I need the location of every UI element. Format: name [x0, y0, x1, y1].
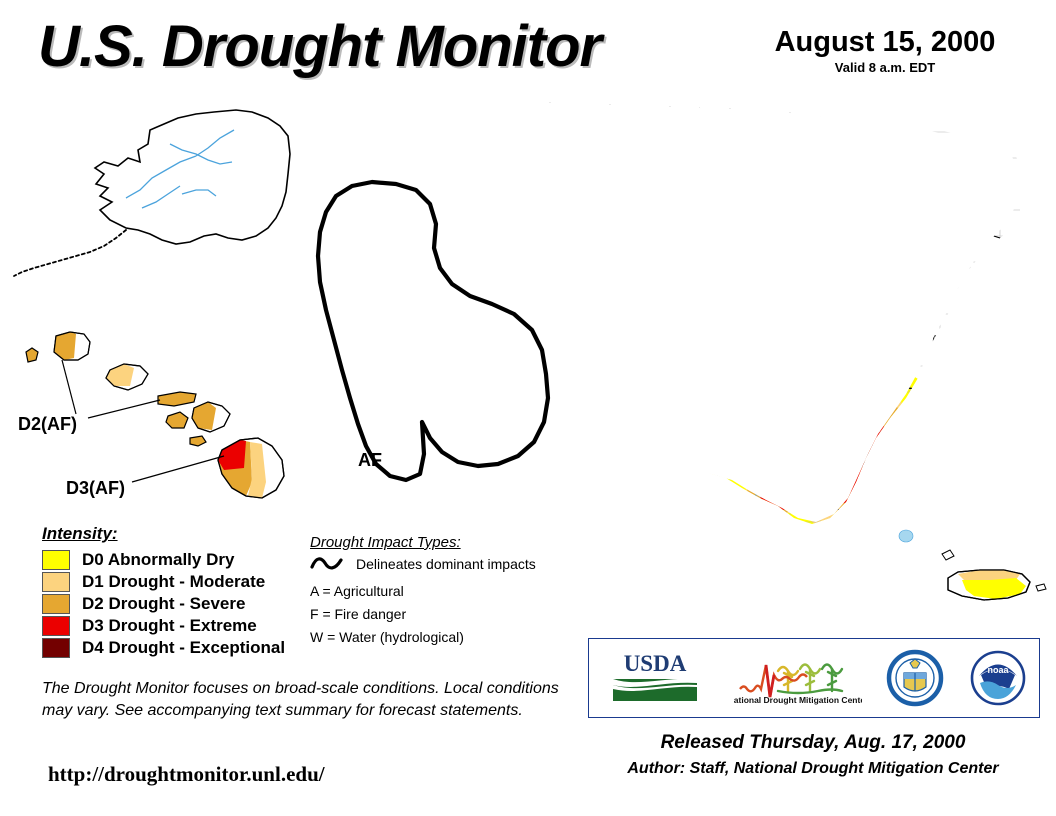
legend-item-d3: D3 Drought - Extreme	[42, 615, 285, 637]
impacts-delineates-row: Delineates dominant impacts	[310, 555, 536, 573]
conus-map	[296, 96, 1022, 570]
impacts-delineates-label: Delineates dominant impacts	[356, 556, 536, 572]
usda-logo: USDA	[601, 649, 709, 707]
legend-title: Intensity:	[42, 524, 285, 544]
legend-label-d1: D1 Drought - Moderate	[82, 572, 265, 592]
ndmc-logo: National Drought Mitigation Center	[734, 649, 862, 707]
squiggle-icon	[310, 555, 344, 573]
impacts-title: Drought Impact Types:	[310, 534, 536, 551]
page-title: U.S. Drought Monitor	[38, 18, 601, 76]
legend-label-d3: D3 Drought - Extreme	[82, 616, 257, 636]
legend-item-d1: D1 Drought - Moderate	[42, 571, 285, 593]
impact-type-f: F = Fire danger	[310, 606, 536, 622]
release-date: Released Thursday, Aug. 17, 2000	[588, 732, 1038, 754]
impact-type-a: A = Agricultural	[310, 583, 536, 599]
legend-label-d0: D0 Abnormally Dry	[82, 550, 234, 570]
website-url[interactable]: http://droughtmonitor.unl.edu/	[48, 762, 325, 787]
svg-text:USDA: USDA	[624, 651, 687, 676]
impact-type-w: W = Water (hydrological)	[310, 629, 536, 645]
legend-swatch-d0	[42, 550, 70, 570]
agency-logos-panel: USDA National Drought Mitigation Center	[588, 638, 1040, 718]
legend-swatch-d1	[42, 572, 70, 592]
noaa-logo: noaa	[969, 649, 1027, 707]
noaa-seal-logo	[886, 649, 944, 707]
legend-swatch-d3	[42, 616, 70, 636]
legend-item-d4: D4 Drought - Exceptional	[42, 637, 285, 659]
legend-label-d4: D4 Drought - Exceptional	[82, 638, 285, 658]
svg-text:National Drought Mitigation Ce: National Drought Mitigation Center	[734, 695, 862, 705]
callout-label-d2af: D2(AF)	[18, 414, 77, 435]
alaska-inset	[14, 110, 290, 276]
callout-label-af: AF	[358, 450, 382, 471]
intensity-legend: Intensity: D0 Abnormally Dry D1 Drought …	[42, 524, 285, 659]
legend-item-d2: D2 Drought - Severe	[42, 593, 285, 615]
drought-impact-types: Drought Impact Types: Delineates dominan…	[310, 534, 536, 652]
puerto-rico-inset	[942, 550, 1046, 600]
legend-label-d2: D2 Drought - Severe	[82, 594, 245, 614]
map-date: August 15, 2000	[740, 26, 1030, 59]
legend-swatch-d4	[42, 638, 70, 658]
disclaimer-text: The Drought Monitor focuses on broad-sca…	[42, 678, 562, 721]
legend-swatch-d2	[42, 594, 70, 614]
svg-text:noaa: noaa	[987, 665, 1009, 675]
map-valid-time: Valid 8 a.m. EDT	[740, 60, 1030, 75]
author-line: Author: Staff, National Drought Mitigati…	[578, 760, 1048, 778]
legend-item-d0: D0 Abnormally Dry	[42, 549, 285, 571]
callout-label-d3af: D3(AF)	[66, 478, 125, 499]
